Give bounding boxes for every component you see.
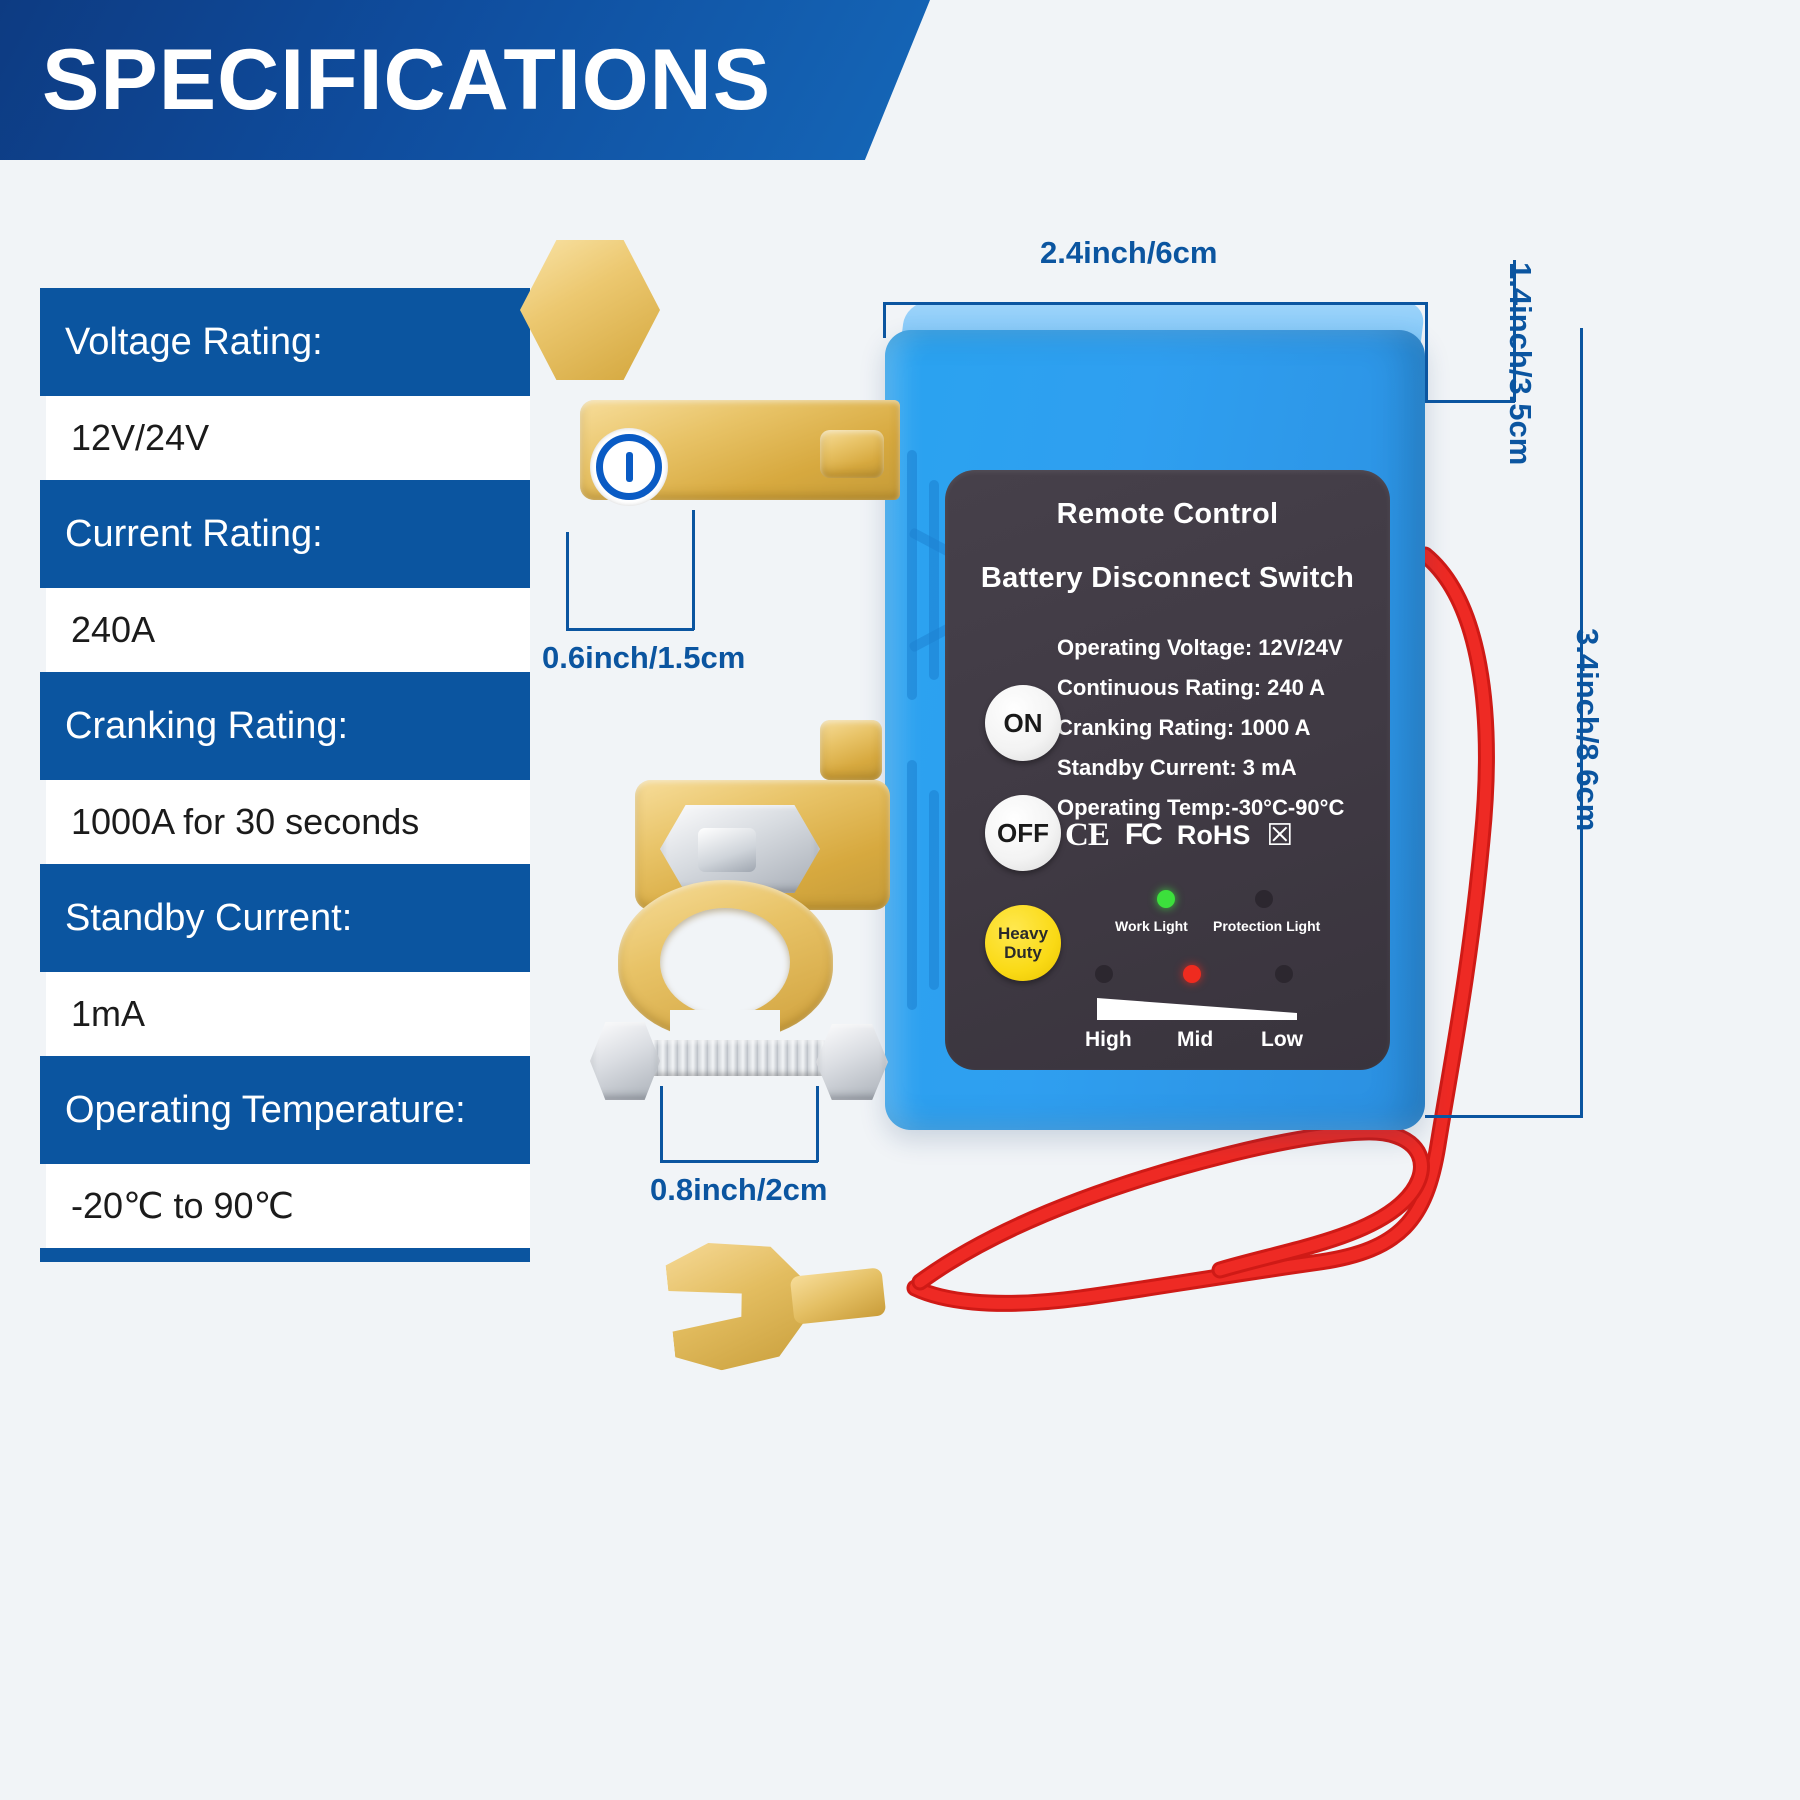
dimension-width-top: 2.4inch/6cm: [1040, 235, 1217, 271]
dimension-tick-terminal-left: [566, 532, 569, 630]
clamp-bolt-head: [698, 828, 756, 872]
power-icon: [596, 434, 662, 500]
clamp-nut-right: [816, 1024, 888, 1100]
on-button[interactable]: ON: [985, 685, 1061, 761]
dimension-line-height-full-bottom: [1425, 1115, 1583, 1118]
level-high-led: [1095, 965, 1113, 983]
dimension-tick-right: [1425, 302, 1428, 402]
housing-groove: [907, 450, 917, 700]
device-label-panel: Remote Control Battery Disconnect Switch…: [945, 470, 1390, 1070]
label-spec-continuous-rating: Continuous Rating: 240 A: [1057, 668, 1387, 708]
label-spec-cranking-rating: Cranking Rating: 1000 A: [1057, 708, 1387, 748]
housing-groove: [929, 480, 939, 680]
spec-value-standby-current: 1mA: [46, 972, 530, 1056]
level-low-led: [1275, 965, 1293, 983]
weee-bin-icon: ☒: [1266, 818, 1293, 853]
dimension-tick-left: [883, 302, 886, 338]
spec-label-voltage-rating: Voltage Rating:: [40, 288, 530, 396]
upper-terminal-stud: [820, 430, 884, 478]
housing-groove: [929, 790, 939, 990]
heavy-duty-badge: Heavy Duty: [985, 905, 1061, 981]
level-mid-led: [1183, 965, 1201, 983]
lug-crimp-barrel: [790, 1267, 887, 1324]
product-illustration: Remote Control Battery Disconnect Switch…: [520, 240, 1780, 1640]
spec-value-voltage-rating: 12V/24V: [46, 396, 530, 480]
dimension-tick-terminal-right: [692, 510, 695, 630]
spec-value-cranking-rating: 1000A for 30 seconds: [46, 780, 530, 864]
protection-light-led: [1255, 890, 1273, 908]
work-light-label: Work Light: [1115, 918, 1188, 934]
spec-label-current-rating: Current Rating:: [40, 480, 530, 588]
label-title-product-name: Battery Disconnect Switch: [945, 562, 1390, 595]
dimension-clamp-bolt: 0.8inch/2cm: [650, 1172, 827, 1208]
spec-label-standby-current: Standby Current:: [40, 864, 530, 972]
label-spec-operating-voltage: Operating Voltage: 12V/24V: [1057, 628, 1387, 668]
clamp-bore: [660, 908, 790, 1016]
spec-label-operating-temperature: Operating Temperature:: [40, 1056, 530, 1164]
housing-groove: [907, 760, 917, 1010]
level-label-high: High: [1085, 1028, 1132, 1052]
table-bottom-edge: [40, 1248, 530, 1262]
clamp-nut-left: [590, 1022, 660, 1100]
spec-value-operating-temperature: -20℃ to 90℃: [46, 1164, 530, 1248]
dimension-tick-clamp-left: [660, 1086, 663, 1162]
level-gradient-wedge: [1097, 998, 1297, 1020]
protection-light-label: Protection Light: [1213, 918, 1320, 934]
level-label-mid: Mid: [1177, 1028, 1213, 1052]
label-title-remote-control: Remote Control: [945, 498, 1390, 531]
dimension-height-full: 3.4inch/8.6cm: [1569, 628, 1605, 831]
work-light-led: [1157, 890, 1175, 908]
page-title: SPECIFICATIONS: [42, 37, 771, 123]
heavy-duty-line2: Duty: [1004, 943, 1042, 962]
off-button[interactable]: OFF: [985, 795, 1061, 871]
label-spec-standby-current: Standby Current: 3 mA: [1057, 748, 1387, 788]
specifications-table: Voltage Rating: 12V/24V Current Rating: …: [40, 288, 530, 1262]
dimension-height-top: 1.4inch/3.5cm: [1502, 262, 1538, 465]
header-banner: SPECIFICATIONS: [0, 0, 930, 160]
dimension-tick-clamp-right: [816, 1086, 819, 1162]
certification-marks: CE FC RoHS ☒: [1065, 812, 1385, 858]
spec-label-cranking-rating: Cranking Rating:: [40, 672, 530, 780]
dimension-line-width-top: [883, 302, 1428, 305]
fcc-mark-icon: FC: [1125, 818, 1161, 852]
lower-terminal-stud: [820, 720, 882, 780]
dimension-line-terminal: [566, 628, 694, 631]
level-label-low: Low: [1261, 1028, 1303, 1052]
heavy-duty-line1: Heavy: [998, 924, 1048, 943]
power-icon-bar: [626, 452, 633, 482]
rohs-mark-icon: RoHS: [1177, 820, 1251, 851]
power-symbol-marker: [590, 428, 668, 506]
upper-hex-nut: [520, 240, 660, 380]
clamp-threaded-rod: [638, 1040, 828, 1076]
dimension-line-clamp: [660, 1160, 818, 1163]
dimension-terminal-small: 0.6inch/1.5cm: [542, 640, 745, 676]
spec-value-current-rating: 240A: [46, 588, 530, 672]
label-spec-list: Operating Voltage: 12V/24V Continuous Ra…: [1057, 628, 1387, 828]
ce-mark-icon: CE: [1065, 817, 1109, 854]
